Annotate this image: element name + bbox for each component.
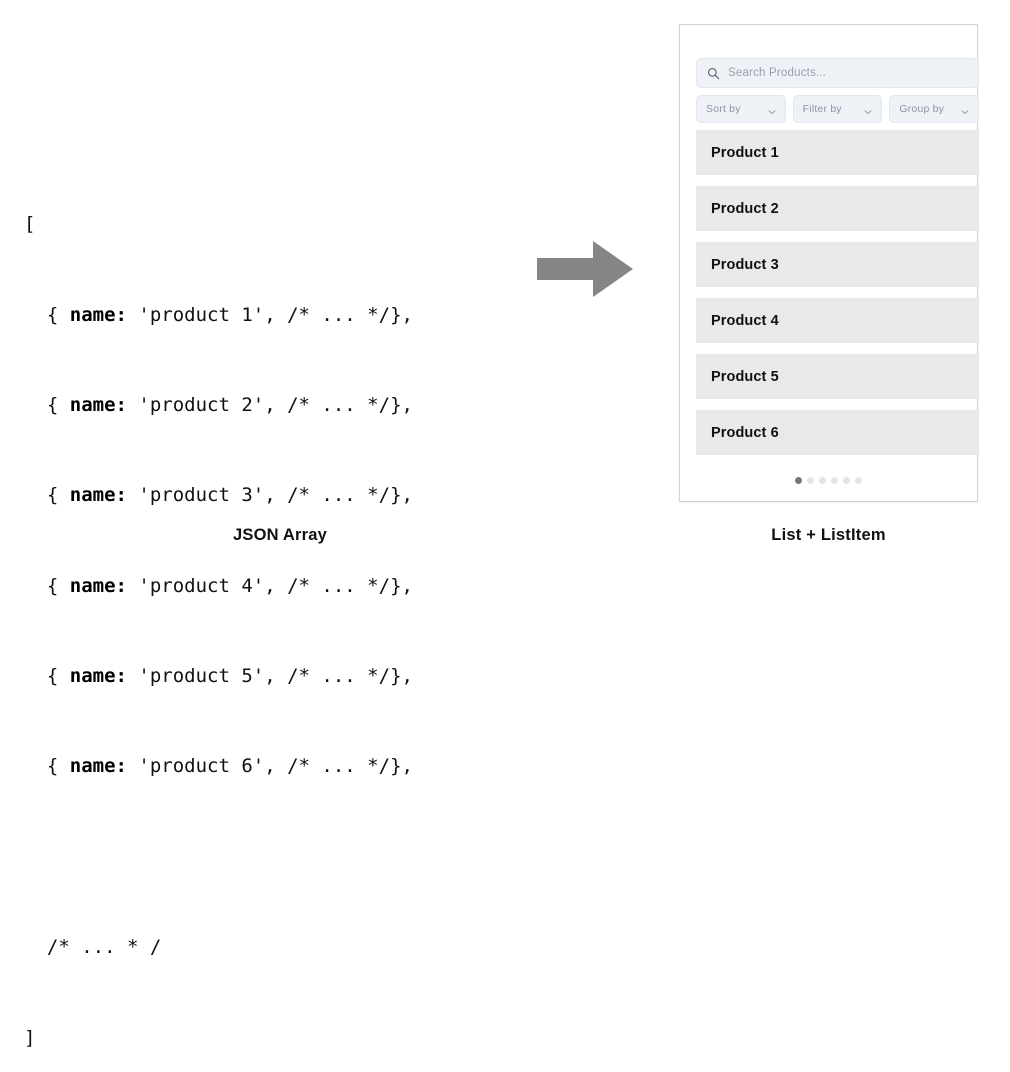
code-entry-value: 'product 5', /* ... */}, — [127, 665, 413, 687]
pagination-dot[interactable] — [855, 477, 862, 484]
code-entry-key: name: — [70, 755, 127, 777]
product-list: Product 1 Product 2 Product 3 Product 4 … — [696, 130, 979, 466]
pagination-dot[interactable] — [831, 477, 838, 484]
list-item[interactable]: Product 2 — [696, 186, 979, 231]
json-array-code: [ { name: 'product 1', /* ... */}, { nam… — [24, 168, 413, 1072]
pagination-dot[interactable] — [807, 477, 814, 484]
code-line-entry: { name: 'product 6', /* ... */}, — [24, 755, 413, 778]
caption-json-array: JSON Array — [0, 526, 560, 545]
chevron-down-icon — [767, 104, 777, 114]
code-line-close-bracket: ] — [24, 1027, 413, 1050]
code-entry-prefix: { — [24, 304, 70, 326]
code-entry-prefix: { — [24, 755, 70, 777]
code-entry-value: 'product 1', /* ... */}, — [127, 304, 413, 326]
group-by-label: Group by — [899, 103, 944, 115]
filter-by-label: Filter by — [803, 103, 842, 115]
code-entry-key: name: — [70, 484, 127, 506]
pagination-dots — [688, 477, 969, 484]
code-line-entry: { name: 'product 1', /* ... */}, — [24, 304, 413, 327]
sort-by-dropdown[interactable]: Sort by — [696, 95, 786, 123]
code-entry-key: name: — [70, 665, 127, 687]
code-line-entry: { name: 'product 5', /* ... */}, — [24, 665, 413, 688]
list-item-label: Product 4 — [711, 313, 779, 329]
group-by-dropdown[interactable]: Group by — [889, 95, 979, 123]
list-item[interactable]: Product 1 — [696, 130, 979, 175]
search-placeholder: Search Products... — [728, 67, 826, 79]
code-entry-value: 'product 3', /* ... */}, — [127, 484, 413, 506]
code-entry-key: name: — [70, 304, 127, 326]
code-line-entry: { name: 'product 3', /* ... */}, — [24, 484, 413, 507]
code-close-bracket: ] — [24, 1027, 35, 1049]
code-entry-prefix: { — [24, 665, 70, 687]
code-entry-prefix: { — [24, 394, 70, 416]
search-icon — [707, 67, 720, 80]
filter-controls-row: Sort by Filter by Group by — [696, 95, 979, 123]
code-line-blank — [24, 846, 413, 869]
code-ellipsis-comment: /* ... * / — [24, 936, 161, 958]
code-entry-prefix: { — [24, 484, 70, 506]
pagination-dot[interactable] — [843, 477, 850, 484]
code-line-entry: { name: 'product 4', /* ... */}, — [24, 575, 413, 598]
list-panel-content: Search Products... Sort by Filter by — [688, 25, 969, 501]
pagination-dot[interactable] — [819, 477, 826, 484]
list-item[interactable]: Product 3 — [696, 242, 979, 287]
chevron-down-icon — [960, 104, 970, 114]
search-input[interactable]: Search Products... — [696, 58, 979, 88]
list-item[interactable]: Product 5 — [696, 354, 979, 399]
code-entry-key: name: — [70, 394, 127, 416]
code-entry-value: 'product 4', /* ... */}, — [127, 575, 413, 597]
list-item-label: Product 2 — [711, 201, 779, 217]
code-entry-prefix: { — [24, 575, 70, 597]
list-item-label: Product 5 — [711, 369, 779, 385]
list-panel: Search Products... Sort by Filter by — [679, 24, 978, 502]
code-line-entry: { name: 'product 2', /* ... */}, — [24, 394, 413, 417]
list-item-label: Product 6 — [711, 425, 779, 441]
code-line-open-bracket: [ — [24, 213, 413, 236]
code-line-ellipsis-comment: /* ... * / — [24, 936, 413, 959]
sort-by-label: Sort by — [706, 103, 741, 115]
chevron-down-icon — [863, 104, 873, 114]
code-entry-value: 'product 2', /* ... */}, — [127, 394, 413, 416]
list-item-label: Product 1 — [711, 145, 779, 161]
code-open-bracket: [ — [24, 213, 35, 235]
list-item[interactable]: Product 4 — [696, 298, 979, 343]
code-entry-value: 'product 6', /* ... */}, — [127, 755, 413, 777]
list-item-label: Product 3 — [711, 257, 779, 273]
pagination-dot[interactable] — [795, 477, 802, 484]
caption-list-listitem: List + ListItem — [679, 526, 978, 545]
right-arrow-icon — [537, 238, 633, 300]
code-entry-key: name: — [70, 575, 127, 597]
list-item[interactable]: Product 6 — [696, 410, 979, 455]
filter-by-dropdown[interactable]: Filter by — [793, 95, 883, 123]
